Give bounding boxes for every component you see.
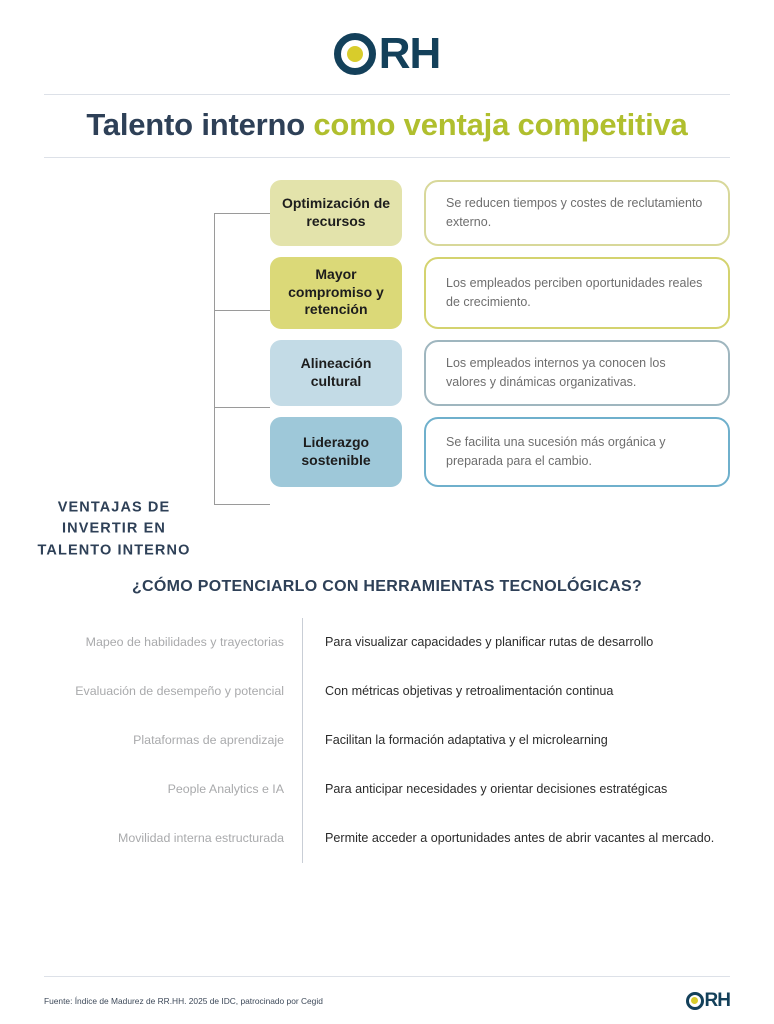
bracket-arm-2 bbox=[214, 310, 270, 311]
bracket-arm-4 bbox=[214, 504, 270, 505]
ring-with-dot-icon bbox=[686, 992, 704, 1010]
logo-dot bbox=[691, 997, 698, 1004]
advantage-row: Optimización de recursos Se reducen tiem… bbox=[270, 180, 730, 246]
tools-heading: ¿CÓMO POTENCIARLO CON HERRAMIENTAS TECNO… bbox=[0, 578, 774, 596]
advantage-description: Los empleados perciben oportunidades rea… bbox=[424, 257, 730, 329]
advantage-rows: Optimización de recursos Se reducen tiem… bbox=[270, 180, 730, 498]
orh-logo: RH bbox=[334, 32, 441, 76]
bracket-spine bbox=[214, 213, 215, 505]
tool-row: Movilidad interna estructurada Permite a… bbox=[44, 814, 730, 863]
advantage-description: Los empleados internos ya conocen los va… bbox=[424, 340, 730, 406]
title-block: Talento interno como ventaja competitiva bbox=[44, 94, 730, 158]
page-title-part-b: como ventaja competitiva bbox=[313, 107, 687, 142]
advantage-row: Alineación cultural Los empleados intern… bbox=[270, 340, 730, 406]
tool-name: Plataformas de aprendizaje bbox=[44, 733, 302, 747]
logo-wordmark: RH bbox=[705, 991, 730, 1010]
tool-name: Movilidad interna estructurada bbox=[44, 831, 302, 845]
advantage-chip: Alineación cultural bbox=[270, 340, 402, 406]
ring-with-dot-icon bbox=[334, 33, 376, 75]
tool-row: Plataformas de aprendizaje Facilitan la … bbox=[44, 716, 730, 765]
tool-benefit: Con métricas objetivas y retroalimentaci… bbox=[302, 667, 730, 716]
page-title-part-a: Talento interno bbox=[86, 107, 305, 142]
tool-benefit: Permite acceder a oportunidades antes de… bbox=[302, 814, 730, 863]
advantage-chip: Liderazgo sostenible bbox=[270, 417, 402, 487]
tool-benefit: Para visualizar capacidades y planificar… bbox=[302, 618, 730, 667]
footer-source: Fuente: Índice de Madurez de RR.HH. 2025… bbox=[44, 996, 323, 1006]
advantages-section: VENTAJAS DE INVERTIR EN TALENTO INTERNO … bbox=[0, 180, 774, 560]
header-logo: RH bbox=[0, 0, 774, 76]
tool-benefit: Facilitan la formación adaptativa y el m… bbox=[302, 716, 730, 765]
page-title: Talento interno como ventaja competitiva bbox=[44, 107, 730, 143]
tool-name: People Analytics e IA bbox=[44, 782, 302, 796]
tool-benefit: Para anticipar necesidades y orientar de… bbox=[302, 765, 730, 814]
tools-table: Mapeo de habilidades y trayectorias Para… bbox=[44, 618, 730, 863]
tool-name: Evaluación de desempeño y potencial bbox=[44, 684, 302, 698]
advantage-description: Se facilita una sucesión más orgánica y … bbox=[424, 417, 730, 487]
logo-wordmark: RH bbox=[379, 32, 441, 76]
bracket-arm-1 bbox=[214, 213, 270, 214]
tool-name: Mapeo de habilidades y trayectorias bbox=[44, 635, 302, 649]
logo-dot bbox=[347, 46, 363, 62]
tool-row: Evaluación de desempeño y potencial Con … bbox=[44, 667, 730, 716]
advantage-chip: Mayor compromiso y retención bbox=[270, 257, 402, 329]
advantage-description: Se reducen tiempos y costes de reclutami… bbox=[424, 180, 730, 246]
tool-row: Mapeo de habilidades y trayectorias Para… bbox=[44, 618, 730, 667]
advantage-chip: Optimización de recursos bbox=[270, 180, 402, 246]
tool-row: People Analytics e IA Para anticipar nec… bbox=[44, 765, 730, 814]
advantages-label: VENTAJAS DE INVERTIR EN TALENTO INTERNO bbox=[24, 497, 204, 562]
advantage-row: Liderazgo sostenible Se facilita una suc… bbox=[270, 417, 730, 487]
bracket-arm-3 bbox=[214, 407, 270, 408]
footer: Fuente: Índice de Madurez de RR.HH. 2025… bbox=[44, 976, 730, 1010]
footer-logo: RH bbox=[686, 991, 730, 1010]
advantage-row: Mayor compromiso y retención Los emplead… bbox=[270, 257, 730, 329]
